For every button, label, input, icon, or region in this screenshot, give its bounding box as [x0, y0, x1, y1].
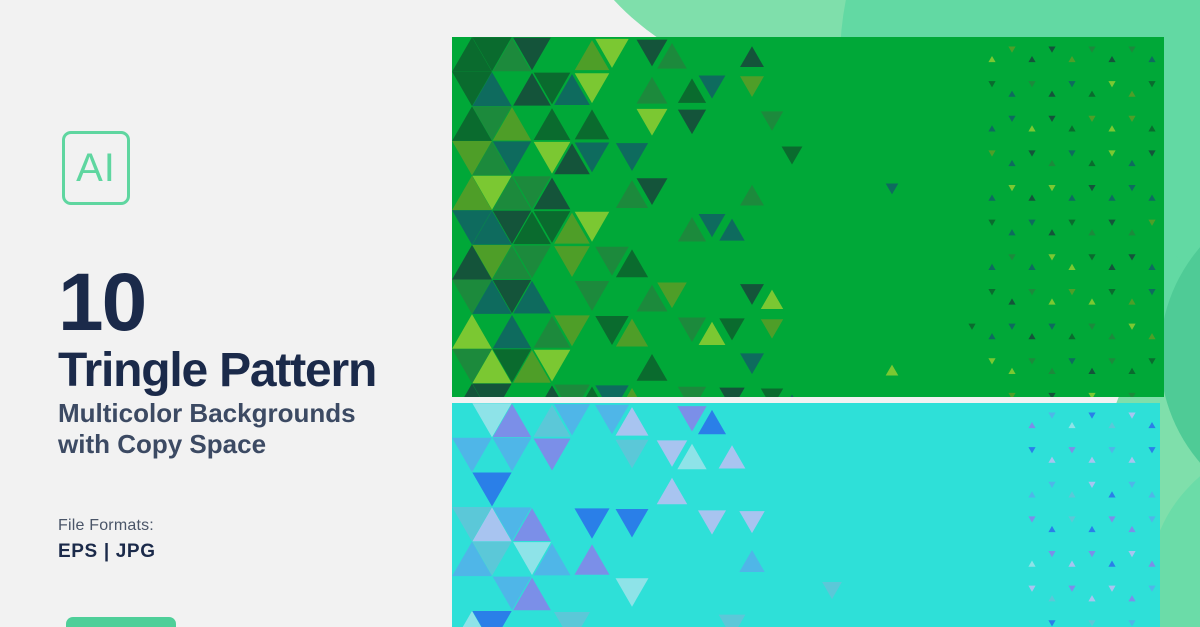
info-column: AI 10 Tringle Pattern Multicolor Backgro… — [0, 0, 452, 627]
file-format-eps: EPS — [58, 541, 98, 562]
page-subtitle-line-2: with Copy Space — [58, 429, 448, 460]
file-format-separator: | — [98, 541, 116, 562]
file-formats-label: File Formats: — [58, 517, 154, 535]
file-formats-value: EPS|JPG — [58, 541, 156, 563]
cyan-triangle-pattern-preview — [452, 403, 1160, 627]
file-format-jpg: JPG — [116, 541, 156, 562]
ai-badge-label: AI — [76, 148, 116, 188]
ai-format-badge: AI — [62, 131, 130, 205]
green-pattern-canvas — [452, 37, 1164, 397]
cyan-pattern-canvas — [452, 403, 1160, 627]
poster-canvas: AI 10 Tringle Pattern Multicolor Backgro… — [0, 0, 1200, 627]
green-triangle-pattern-preview — [452, 37, 1164, 397]
page-subtitle-line-1: Multicolor Backgrounds — [58, 398, 448, 429]
page-title: Tringle Pattern — [58, 347, 376, 395]
item-count: 10 — [58, 262, 145, 344]
page-subtitle: Multicolor Backgrounds with Copy Space — [58, 398, 448, 459]
cta-button[interactable] — [66, 617, 176, 627]
decorative-blob-deep-right — [1160, 190, 1200, 520]
